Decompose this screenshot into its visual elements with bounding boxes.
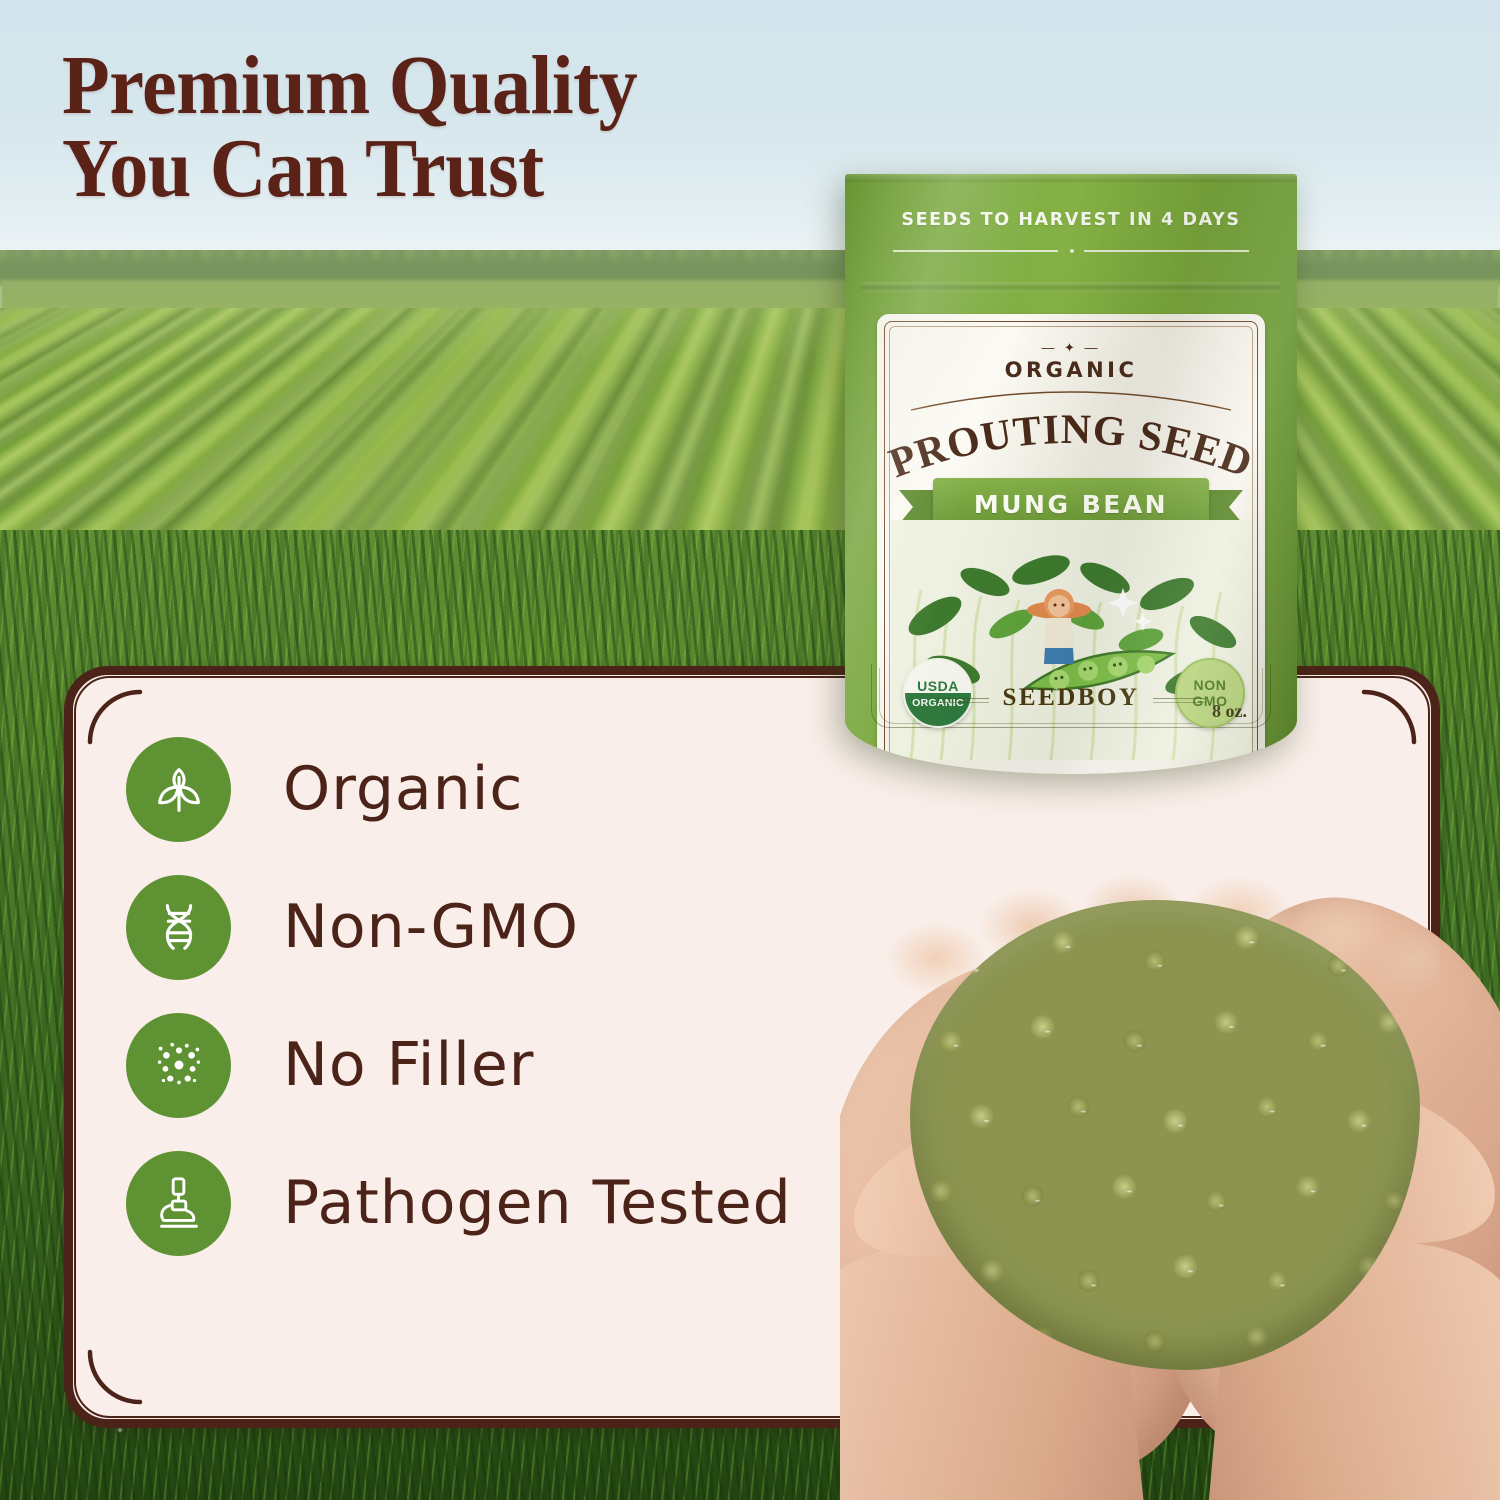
brand-rule-left: [937, 698, 989, 699]
usda-badge-line-1: USDA: [917, 678, 959, 694]
label-variety-ribbon: MUNG BEAN: [899, 474, 1243, 530]
label-seed-pile: [891, 704, 1251, 774]
package-weight: 8 oz.: [1212, 701, 1247, 722]
headline-line-2: You Can Trust: [62, 127, 825, 210]
package-body: SEEDS TO HARVEST IN 4 DAYS — ✦ — ORGANIC: [845, 174, 1297, 774]
package-tagline: SEEDS TO HARVEST IN 4 DAYS: [845, 210, 1297, 230]
non-gmo-badge: NON GMO: [1175, 658, 1245, 728]
package-divider: [893, 246, 1249, 255]
package-top-seal: [845, 174, 1297, 182]
label-organic-text: ORGANIC: [877, 358, 1265, 382]
sprout-illustration: [891, 520, 1251, 760]
label-border-outer: [884, 321, 1258, 774]
brand-rule-right: [1153, 698, 1205, 699]
package-brand-row: SEEDBOY: [845, 684, 1297, 712]
ribbon-body: [933, 478, 1209, 524]
ribbon-tail-right: [1199, 490, 1243, 524]
label-variety-text: MUNG BEAN: [899, 474, 1243, 530]
particles-icon: [126, 1013, 231, 1118]
label-ornament-icon: — ✦ —: [877, 340, 1265, 356]
feature-label-no-filler: No Filler: [283, 1030, 534, 1100]
feature-label-organic: Organic: [283, 754, 523, 824]
microscope-icon: [126, 1151, 231, 1256]
label-arc-rule: [907, 380, 1235, 420]
label-product-name: SPROUTING SEEDS: [877, 352, 1259, 487]
label-product-name-wrap: SPROUTING SEEDS: [877, 388, 1265, 488]
headline: Premium Quality You Can Trust: [62, 44, 825, 210]
usda-organic-badge: USDA ORGANIC: [903, 658, 973, 728]
package-bottom-frame-2: [879, 668, 1263, 724]
headline-line-1: Premium Quality: [62, 39, 637, 132]
non-gmo-badge-line-1: NON: [1194, 677, 1227, 693]
leaves-icon: [126, 737, 231, 842]
non-gmo-badge-line-2: GMO: [1192, 693, 1227, 709]
usda-badge-line-2: ORGANIC: [912, 697, 964, 709]
brand-name: SEEDBOY: [1003, 684, 1140, 712]
feature-label-pathogen-tested: Pathogen Tested: [283, 1168, 792, 1238]
promo-image: Premium Quality You Can Trust SEEDS TO H…: [0, 0, 1500, 1500]
feature-label-non-gmo: Non-GMO: [283, 892, 579, 962]
ribbon-tail-left: [899, 490, 943, 524]
package-bottom-frame: [871, 664, 1271, 728]
package-label: — ✦ — ORGANIC SPROUTING SEEDS: [877, 314, 1265, 774]
package-zipper: [861, 282, 1281, 292]
label-border-inner: [889, 326, 1253, 774]
dna-icon: [126, 875, 231, 980]
product-package[interactable]: SEEDS TO HARVEST IN 4 DAYS — ✦ — ORGANIC: [845, 174, 1297, 774]
hands-holding-seeds-photo: [840, 790, 1500, 1500]
